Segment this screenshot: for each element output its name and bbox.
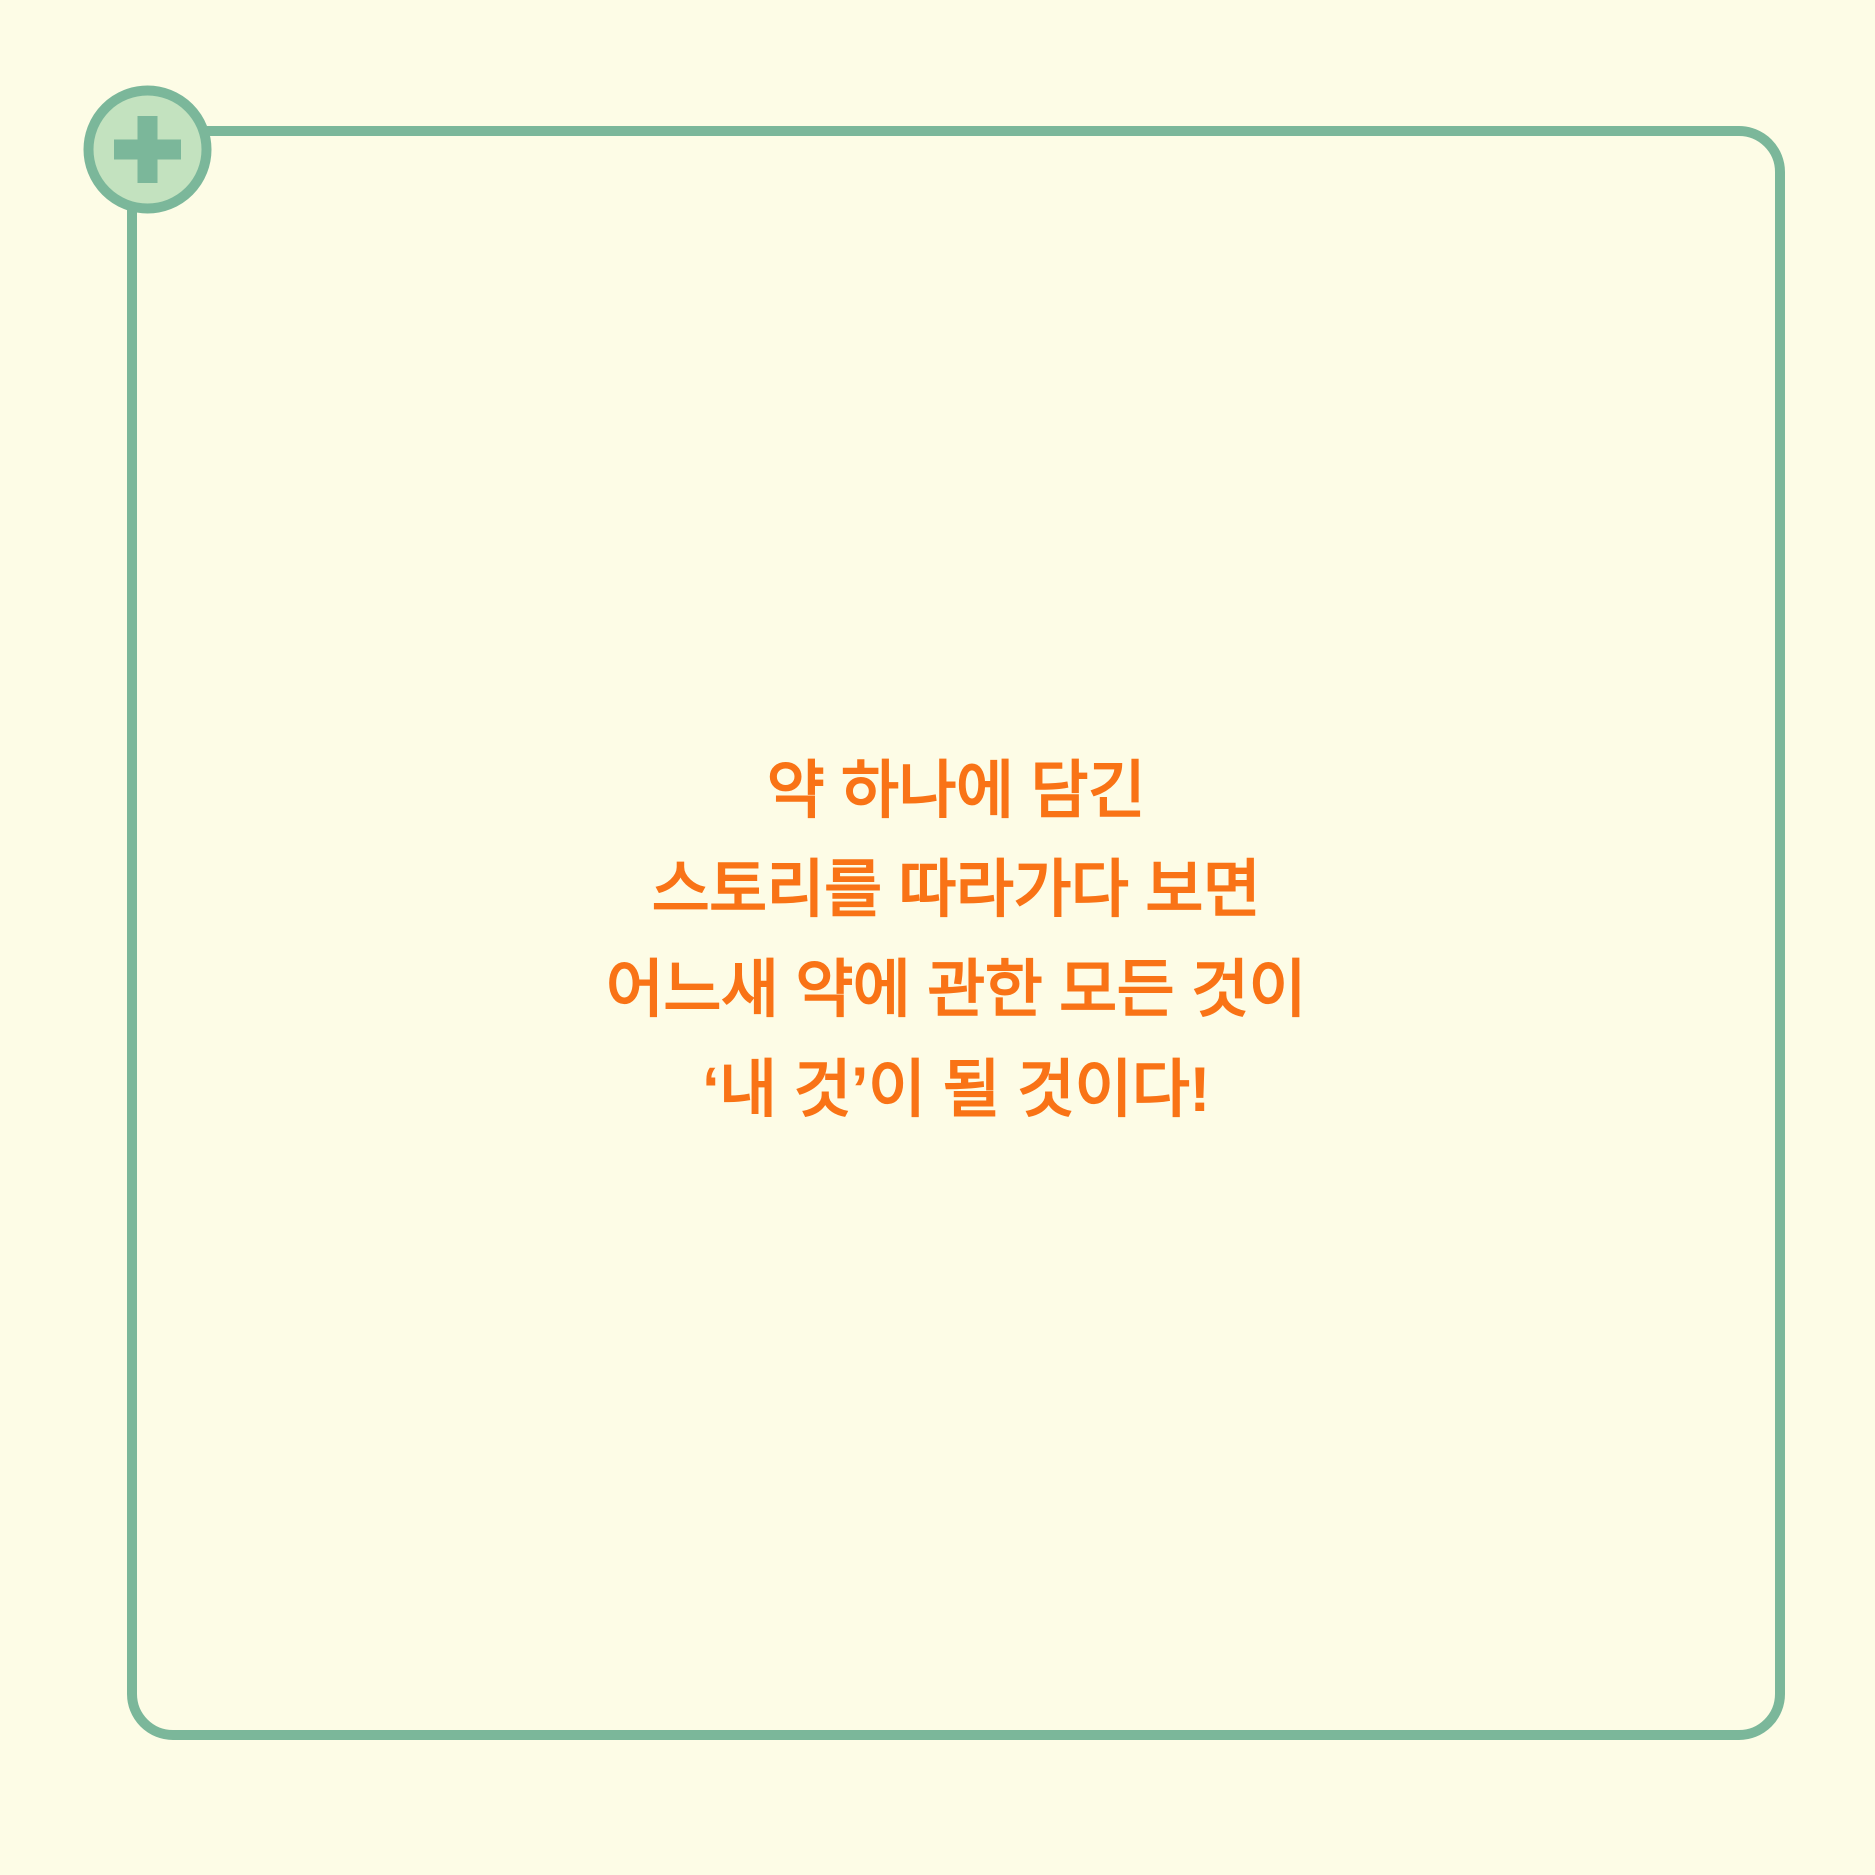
medical-cross-circle-icon xyxy=(81,83,214,216)
card-canvas: 약 하나에 담긴 스토리를 따라가다 보면 어느새 약에 관한 모든 것이 ‘내… xyxy=(0,0,1875,1875)
rounded-frame-border xyxy=(127,126,1785,1740)
corner-badge xyxy=(81,83,214,216)
